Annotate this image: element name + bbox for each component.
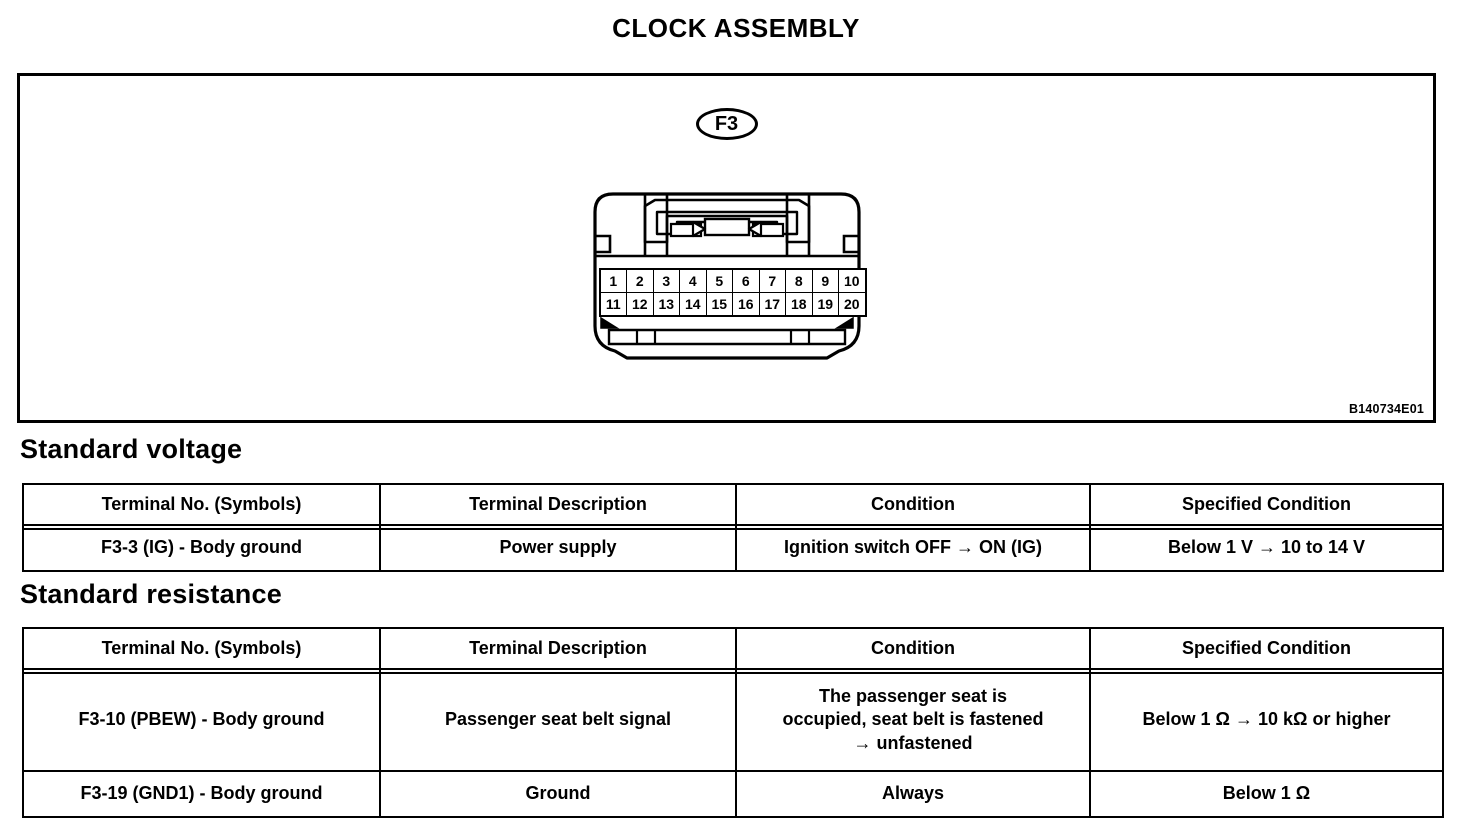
pin-cell: 5 (706, 269, 733, 293)
pin-cell: 14 (680, 293, 707, 317)
cell-terminal-no: F3-3 (IG) - Body ground (23, 525, 380, 571)
column-header-specified-condition: Specified Condition (1090, 484, 1443, 525)
column-header-condition: Condition (736, 484, 1090, 525)
pin-cell: 11 (600, 293, 627, 317)
connector-callout-f3: F3 (696, 108, 758, 140)
table-row: F3-19 (GND1) - Body ground Ground Always… (23, 771, 1443, 817)
pin-cell: 20 (839, 293, 866, 317)
table-header-row: Terminal No. (Symbols) Terminal Descript… (23, 484, 1443, 525)
column-header-terminal-description: Terminal Description (380, 484, 736, 525)
pin-cell: 15 (706, 293, 733, 317)
connector-diagram-panel: F3 (17, 73, 1436, 423)
figure-reference-code: B140734E01 (1349, 402, 1424, 416)
pin-cell: 18 (786, 293, 813, 317)
pin-cell: 19 (812, 293, 839, 317)
column-header-terminal-no: Terminal No. (Symbols) (23, 484, 380, 525)
cell-terminal-no: F3-19 (GND1) - Body ground (23, 771, 380, 817)
table-row: F3-3 (IG) - Body ground Power supply Ign… (23, 525, 1443, 571)
section-heading-standard-voltage: Standard voltage (20, 434, 242, 465)
cell-terminal-description: Passenger seat belt signal (380, 669, 736, 771)
pin-row-top: 1 2 3 4 5 6 7 8 9 10 (600, 269, 866, 293)
table-row: F3-10 (PBEW) - Body ground Passenger sea… (23, 669, 1443, 771)
pin-cell: 7 (759, 269, 786, 293)
cell-terminal-no: F3-10 (PBEW) - Body ground (23, 669, 380, 771)
cell-specified-condition: Below 1 Ω (1090, 771, 1443, 817)
column-header-terminal-no: Terminal No. (Symbols) (23, 628, 380, 669)
standard-voltage-table: Terminal No. (Symbols) Terminal Descript… (22, 483, 1444, 572)
connector-lock-block (705, 219, 749, 235)
pin-cell: 10 (839, 269, 866, 293)
cell-condition: The passenger seat is occupied, seat bel… (736, 669, 1090, 771)
table-header-row: Terminal No. (Symbols) Terminal Descript… (23, 628, 1443, 669)
cell-terminal-description: Power supply (380, 525, 736, 571)
pin-cell: 2 (627, 269, 654, 293)
page-title: CLOCK ASSEMBLY (0, 13, 1472, 44)
cell-condition: Ignition switch OFF → ON (IG) (736, 525, 1090, 571)
pin-row-bottom: 11 12 13 14 15 16 17 18 19 20 (600, 293, 866, 317)
column-header-terminal-description: Terminal Description (380, 628, 736, 669)
connector-pin-grid: 1 2 3 4 5 6 7 8 9 10 11 12 13 14 15 (599, 268, 867, 317)
pin-cell: 9 (812, 269, 839, 293)
cell-specified-condition: Below 1 V → 10 to 14 V (1090, 525, 1443, 571)
pin-cell: 16 (733, 293, 760, 317)
pin-cell: 4 (680, 269, 707, 293)
connector-illustration: 1 2 3 4 5 6 7 8 9 10 11 12 13 14 15 (577, 186, 877, 371)
standard-resistance-table: Terminal No. (Symbols) Terminal Descript… (22, 627, 1444, 818)
pin-cell: 1 (600, 269, 627, 293)
column-header-condition: Condition (736, 628, 1090, 669)
cell-specified-condition: Below 1 Ω → 10 kΩ or higher (1090, 669, 1443, 771)
cell-terminal-description: Ground (380, 771, 736, 817)
section-heading-standard-resistance: Standard resistance (20, 579, 282, 610)
cell-condition: Always (736, 771, 1090, 817)
pin-cell: 13 (653, 293, 680, 317)
pin-cell: 8 (786, 269, 813, 293)
pin-cell: 17 (759, 293, 786, 317)
pin-cell: 12 (627, 293, 654, 317)
pin-cell: 6 (733, 269, 760, 293)
pin-cell: 3 (653, 269, 680, 293)
column-header-specified-condition: Specified Condition (1090, 628, 1443, 669)
